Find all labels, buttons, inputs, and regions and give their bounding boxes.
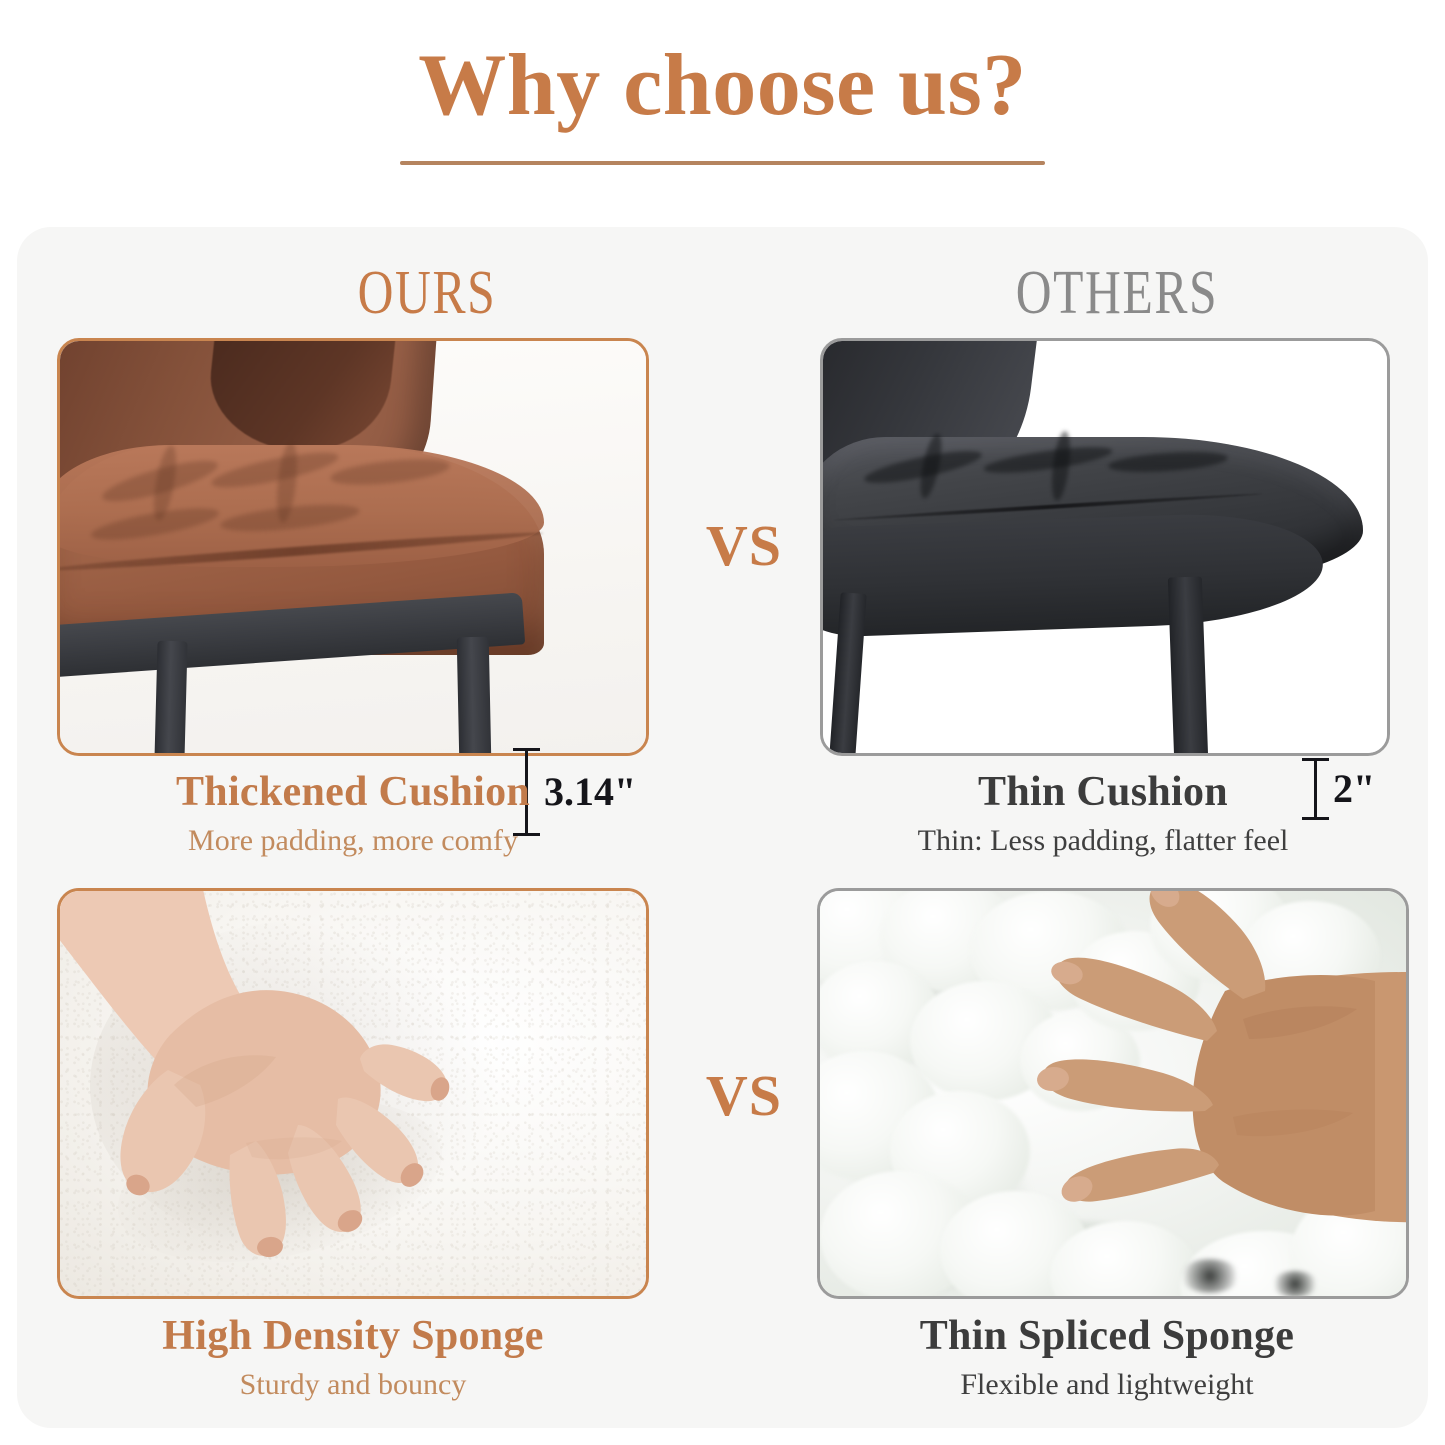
column-header-ours: OURS: [179, 262, 675, 324]
caption-title: Thin Cushion: [793, 769, 1413, 816]
caption-others-thin-cushion: Thin Cushion Thin: Less padding, flatter…: [793, 769, 1413, 859]
caption-subtitle: Flexible and lightweight: [797, 1367, 1417, 1403]
black-leather-thin-cushion-photo: [823, 341, 1387, 753]
title-section: Why choose us?: [0, 0, 1445, 227]
card-ours-high-density-sponge: [57, 888, 649, 1299]
caption-title: High Density Sponge: [43, 1313, 663, 1360]
column-header-others: OTHERS: [869, 262, 1365, 324]
caption-subtitle: More padding, more comfy: [43, 823, 663, 859]
page-title: Why choose us?: [0, 42, 1445, 130]
title-underline-divider: [400, 161, 1045, 165]
brown-leather-tufted-cushion-photo: [60, 341, 646, 753]
caption-ours-high-density-sponge: High Density Sponge Sturdy and bouncy: [43, 1313, 663, 1403]
caption-others-thin-spliced-sponge: Thin Spliced Sponge Flexible and lightwe…: [797, 1313, 1417, 1403]
card-others-thin-spliced-sponge: [817, 888, 1409, 1299]
caption-subtitle: Thin: Less padding, flatter feel: [793, 823, 1413, 859]
caption-title: Thin Spliced Sponge: [797, 1313, 1417, 1360]
caption-subtitle: Sturdy and bouncy: [43, 1367, 663, 1403]
card-ours-thickened-cushion: [57, 338, 649, 756]
vs-separator-bottom: VS: [654, 1067, 834, 1125]
vs-separator-top: VS: [654, 517, 834, 575]
caption-ours-thickened-cushion: Thickened Cushion More padding, more com…: [43, 769, 663, 859]
comparison-panel: OURS OTHERS 3.14" VS: [17, 227, 1428, 1428]
hand-pressing-loose-fiber-fill-photo: [820, 891, 1406, 1296]
hand-illustration: [57, 888, 520, 1285]
hand-pressing-dense-white-foam-photo: [60, 891, 646, 1296]
caption-title: Thickened Cushion: [43, 769, 663, 816]
card-others-thin-cushion: [820, 338, 1390, 756]
hand-illustration: [925, 888, 1409, 1299]
